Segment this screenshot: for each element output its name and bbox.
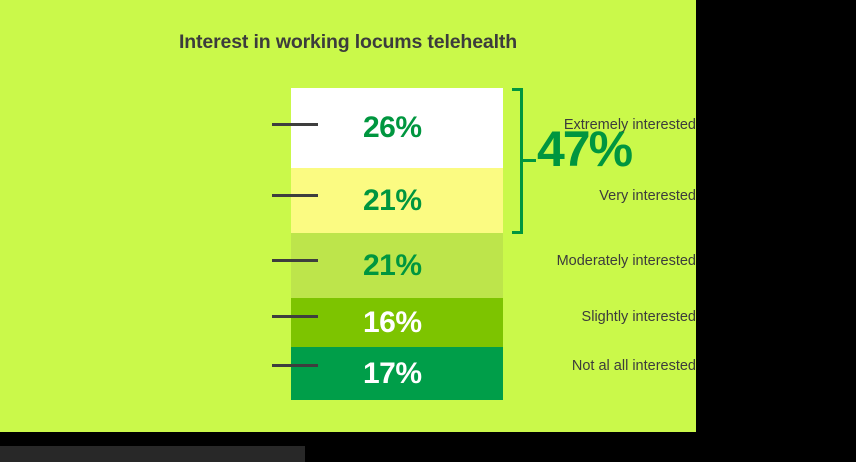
category-label-moderately-interested: Moderately interested: [432, 254, 696, 269]
segment-value-label: 21%: [363, 251, 422, 281]
bar-segment-not-at-all-interested[interactable]: 17%: [291, 347, 503, 400]
segment-value-label: 26%: [363, 113, 422, 143]
category-label-slightly-interested: Slightly interested: [432, 310, 696, 325]
leader-line-extremely-interested: [272, 123, 318, 126]
segment-value-label: 21%: [363, 186, 422, 216]
category-label-not-at-all-interested: Not al all interested: [432, 359, 696, 374]
bottom-chrome-strip: [0, 446, 305, 462]
leader-line-slightly-interested: [272, 315, 318, 318]
leader-line-moderately-interested: [272, 259, 318, 262]
segment-value-label: 17%: [363, 359, 422, 389]
leader-line-not-at-all-interested: [272, 364, 318, 367]
bracket-icon: [512, 88, 523, 234]
bracket-annotation: 47%: [512, 88, 692, 234]
bracket-tick-icon: [523, 159, 536, 162]
annotation-value-label: 47%: [537, 124, 631, 174]
stacked-bar-chart: 26% 21% 21% 16% 17%: [291, 88, 503, 400]
leader-line-very-interested: [272, 194, 318, 197]
slide-canvas: Interest in working locums telehealth 26…: [0, 0, 696, 432]
segment-value-label: 16%: [363, 308, 422, 338]
page-title: Interest in working locums telehealth: [0, 31, 696, 54]
